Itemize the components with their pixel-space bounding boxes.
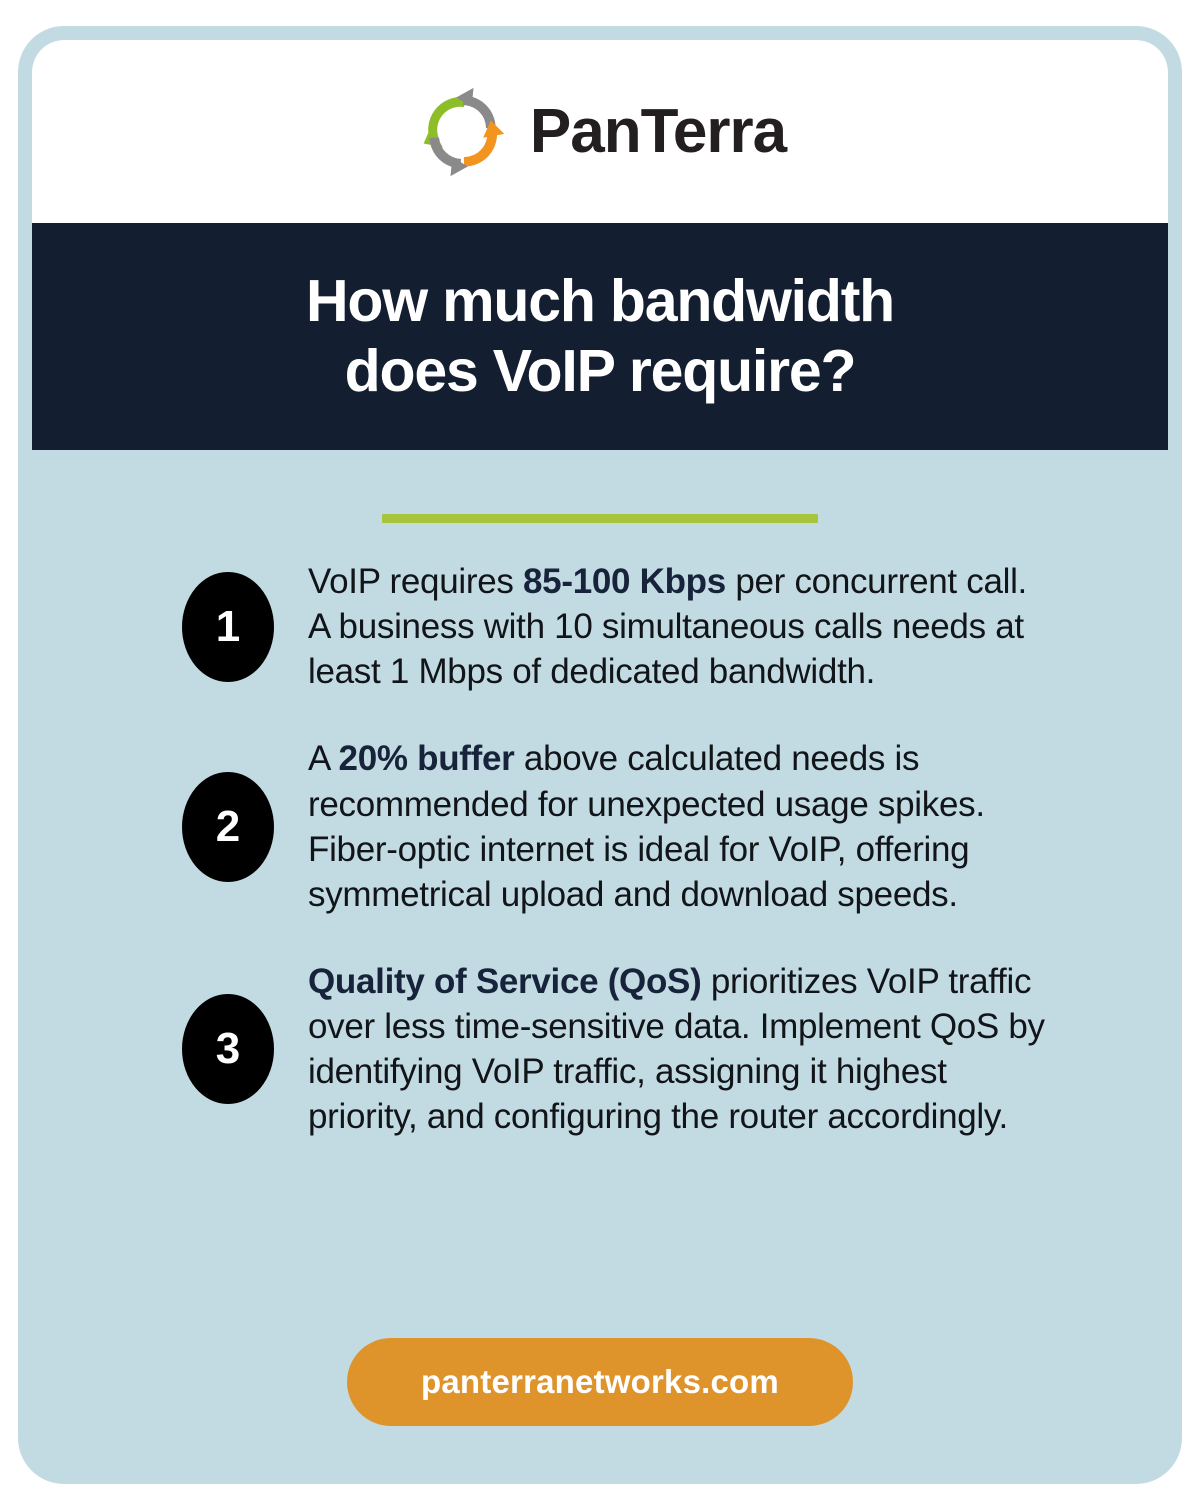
title-band: How much bandwidth does VoIP require? xyxy=(32,223,1168,450)
logo-header: PanTerra xyxy=(32,40,1168,223)
point-text-2: A 20% buffer above calculated needs is r… xyxy=(308,736,1048,917)
list-item: 1 VoIP requires 85-100 Kbps per concurre… xyxy=(182,559,1112,694)
step-badge-2: 2 xyxy=(182,772,274,882)
page-title-line-1: How much bandwidth xyxy=(306,267,894,337)
body-area: 1 VoIP requires 85-100 Kbps per concurre… xyxy=(32,450,1168,1470)
infographic-card: PanTerra How much bandwidth does VoIP re… xyxy=(18,26,1182,1484)
point-text-3: Quality of Service (QoS) prioritizes VoI… xyxy=(308,959,1048,1140)
step-badge-3: 3 xyxy=(182,994,274,1104)
circular-arrows-icon xyxy=(414,84,510,180)
list-item: 2 A 20% buffer above calculated needs is… xyxy=(182,736,1112,917)
points-list: 1 VoIP requires 85-100 Kbps per concurre… xyxy=(32,559,1168,1140)
brand-logo: PanTerra xyxy=(414,84,786,180)
footer: panterranetworks.com xyxy=(32,1338,1168,1426)
logo-wordmark: PanTerra xyxy=(530,101,786,163)
step-badge-1: 1 xyxy=(182,572,274,682)
point-text-1: VoIP requires 85-100 Kbps per concurrent… xyxy=(308,559,1048,694)
page-title-line-2: does VoIP require? xyxy=(345,337,856,407)
website-cta-button[interactable]: panterranetworks.com xyxy=(347,1338,853,1426)
list-item: 3 Quality of Service (QoS) prioritizes V… xyxy=(182,959,1112,1140)
accent-divider xyxy=(382,514,818,523)
